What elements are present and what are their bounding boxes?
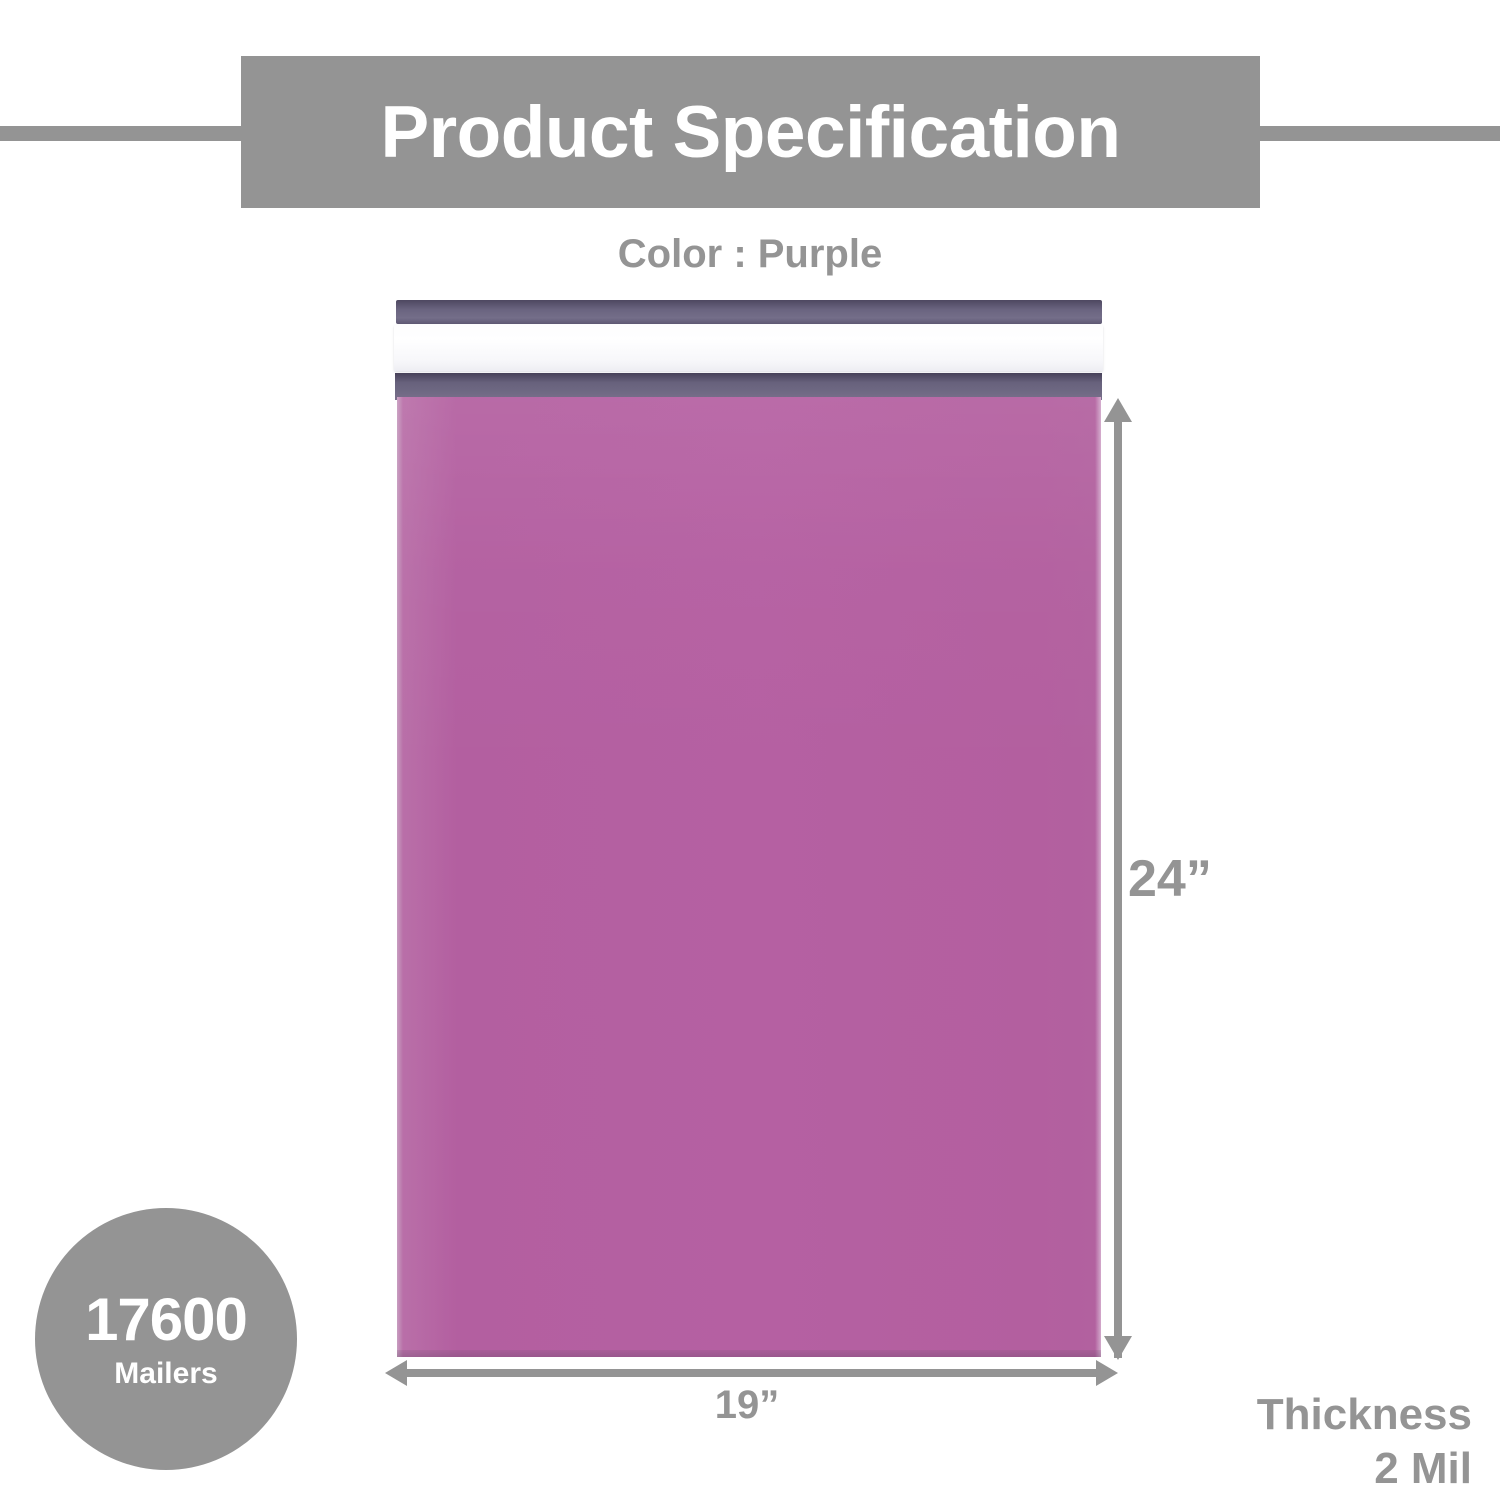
quantity-badge: 17600 Mailers [35,1208,297,1470]
width-dimension-label: 19” [391,1383,1103,1428]
poly-mailer-illustration [391,298,1103,1358]
height-arrow-down-icon [1104,1336,1132,1360]
mailer-flap-top-band [396,300,1102,324]
thickness-label: Thickness [1257,1388,1472,1442]
thickness-block: Thickness 2 Mil [1257,1388,1472,1495]
mailer-flap-fold-band [395,373,1102,400]
title-banner: Product Specification [241,56,1260,208]
mailer-adhesive-liner-strip [394,325,1103,371]
page-title: Product Specification [381,96,1121,169]
height-dimension-label: 24” [1128,849,1212,909]
height-dimension-line [1114,405,1122,1358]
quantity-unit-label: Mailers [114,1359,217,1389]
thickness-value: 2 Mil [1257,1442,1472,1496]
width-dimension-line [397,1369,1103,1377]
quantity-count: 17600 [85,1290,247,1350]
product-specification-page: Product Specification Color : Purple 24”… [0,0,1500,1500]
mailer-body [397,397,1101,1357]
color-label: Color : Purple [0,232,1500,277]
